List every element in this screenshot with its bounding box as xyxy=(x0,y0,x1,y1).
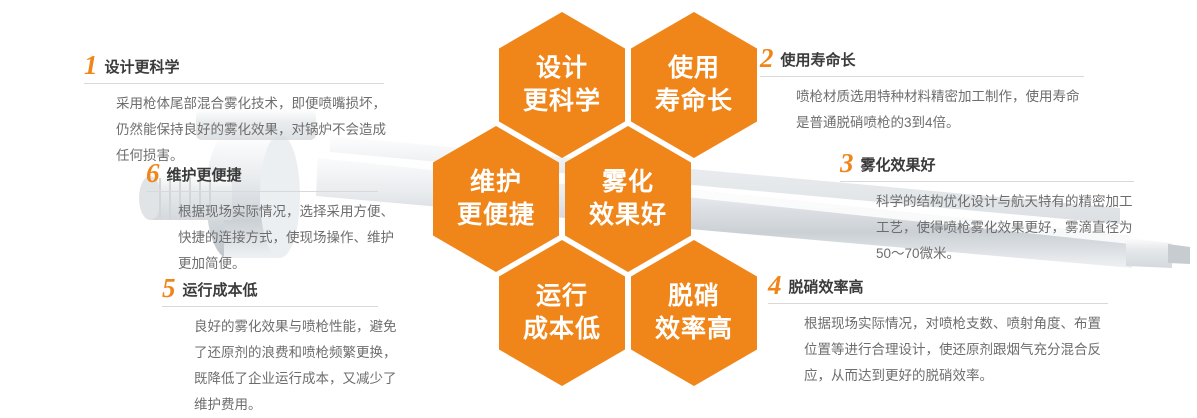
hex-atomization-line1: 雾化 xyxy=(589,166,667,199)
feature-denitration-title: 脱硝效率高 xyxy=(789,278,864,298)
divider xyxy=(84,83,384,84)
feature-design-header: 1 设计更科学 xyxy=(84,52,394,78)
feature-design-body: 采用枪体尾部混合雾化技术，即便喷嘴损坏，仍然能保持良好的雾化效果，对锅炉不会造成… xyxy=(84,91,394,169)
feature-lifespan-number: 2 xyxy=(760,45,774,71)
feature-design: 1 设计更科学 采用枪体尾部混合雾化技术，即便喷嘴损坏，仍然能保持良好的雾化效果… xyxy=(84,52,394,169)
feature-atomization-number: 3 xyxy=(840,150,854,176)
hex-atomization[interactable]: 雾化 效果好 xyxy=(565,126,691,272)
hex-denitration-line2: 效率高 xyxy=(655,313,733,346)
divider xyxy=(760,76,1084,77)
feature-cost-header: 5 运行成本低 xyxy=(162,275,402,301)
hex-cost[interactable]: 运行 成本低 xyxy=(499,240,625,386)
feature-design-title: 设计更科学 xyxy=(105,58,180,78)
hex-atomization-line2: 效果好 xyxy=(589,199,667,232)
hex-maintenance-line1: 维护 xyxy=(457,166,535,199)
feature-cost-title: 运行成本低 xyxy=(183,281,258,301)
feature-lifespan: 2 使用寿命长 喷枪材质选用特种材料精密加工制作，使用寿命是普通脱硝喷枪的3到4… xyxy=(760,45,1090,136)
hex-cost-line2: 成本低 xyxy=(523,313,601,346)
hex-maintenance[interactable]: 维护 更便捷 xyxy=(433,126,559,272)
feature-maintenance-body: 根据现场实际情况，选择采用方便、快捷的连接方式，使现场操作、维护更加简便。 xyxy=(146,199,396,277)
hexagon-cluster: 设计 更科学 使用 寿命长 维护 更便捷 雾化 效果好 运行 成本低 脱硝 效率… xyxy=(420,8,780,408)
hex-design-line2: 更科学 xyxy=(523,85,601,118)
hex-cost-line1: 运行 xyxy=(523,280,601,313)
hex-lifespan-line1: 使用 xyxy=(655,52,733,85)
feature-design-number: 1 xyxy=(84,52,98,78)
feature-atomization: 3 雾化效果好 科学的结构优化设计与航天特有的精密加工工艺，使得喷枪雾化效果更好… xyxy=(840,150,1140,267)
hex-design[interactable]: 设计 更科学 xyxy=(499,12,625,158)
feature-lifespan-header: 2 使用寿命长 xyxy=(760,45,1090,71)
feature-denitration-number: 4 xyxy=(768,272,782,298)
divider xyxy=(146,191,378,192)
feature-lifespan-title: 使用寿命长 xyxy=(781,51,856,71)
feature-maintenance-number: 6 xyxy=(146,160,160,186)
feature-cost-body: 良好的雾化效果与喷枪性能，避免了还原剂的浪费和喷枪频繁更换，既降低了企业运行成本… xyxy=(162,314,402,418)
divider xyxy=(162,306,378,307)
feature-denitration: 4 脱硝效率高 根据现场实际情况，对喷枪支数、喷射角度、布置位置等进行合理设计，… xyxy=(768,272,1113,389)
feature-lifespan-body: 喷枪材质选用特种材料精密加工制作，使用寿命是普通脱硝喷枪的3到4倍。 xyxy=(760,84,1090,136)
hex-denitration[interactable]: 脱硝 效率高 xyxy=(631,240,757,386)
hex-maintenance-line2: 更便捷 xyxy=(457,199,535,232)
hex-lifespan-line2: 寿命长 xyxy=(655,85,733,118)
divider xyxy=(840,181,1134,182)
feature-maintenance-header: 6 维护更便捷 xyxy=(146,160,396,186)
feature-cost-number: 5 xyxy=(162,275,176,301)
hex-lifespan[interactable]: 使用 寿命长 xyxy=(631,12,757,158)
feature-denitration-header: 4 脱硝效率高 xyxy=(768,272,1113,298)
feature-atomization-header: 3 雾化效果好 xyxy=(840,150,1140,176)
hex-denitration-line1: 脱硝 xyxy=(655,280,733,313)
feature-atomization-body: 科学的结构优化设计与航天特有的精密加工工艺，使得喷枪雾化效果更好，雾滴直径为50… xyxy=(840,189,1140,267)
divider xyxy=(768,303,1108,304)
feature-maintenance-title: 维护更便捷 xyxy=(167,166,242,186)
feature-cost: 5 运行成本低 良好的雾化效果与喷枪性能，避免了还原剂的浪费和喷枪频繁更换，既降… xyxy=(162,275,402,418)
feature-atomization-title: 雾化效果好 xyxy=(861,156,936,176)
hex-design-line1: 设计 xyxy=(523,52,601,85)
feature-maintenance: 6 维护更便捷 根据现场实际情况，选择采用方便、快捷的连接方式，使现场操作、维护… xyxy=(146,160,396,277)
feature-denitration-body: 根据现场实际情况，对喷枪支数、喷射角度、布置位置等进行合理设计，使还原剂跟烟气充… xyxy=(768,311,1113,389)
